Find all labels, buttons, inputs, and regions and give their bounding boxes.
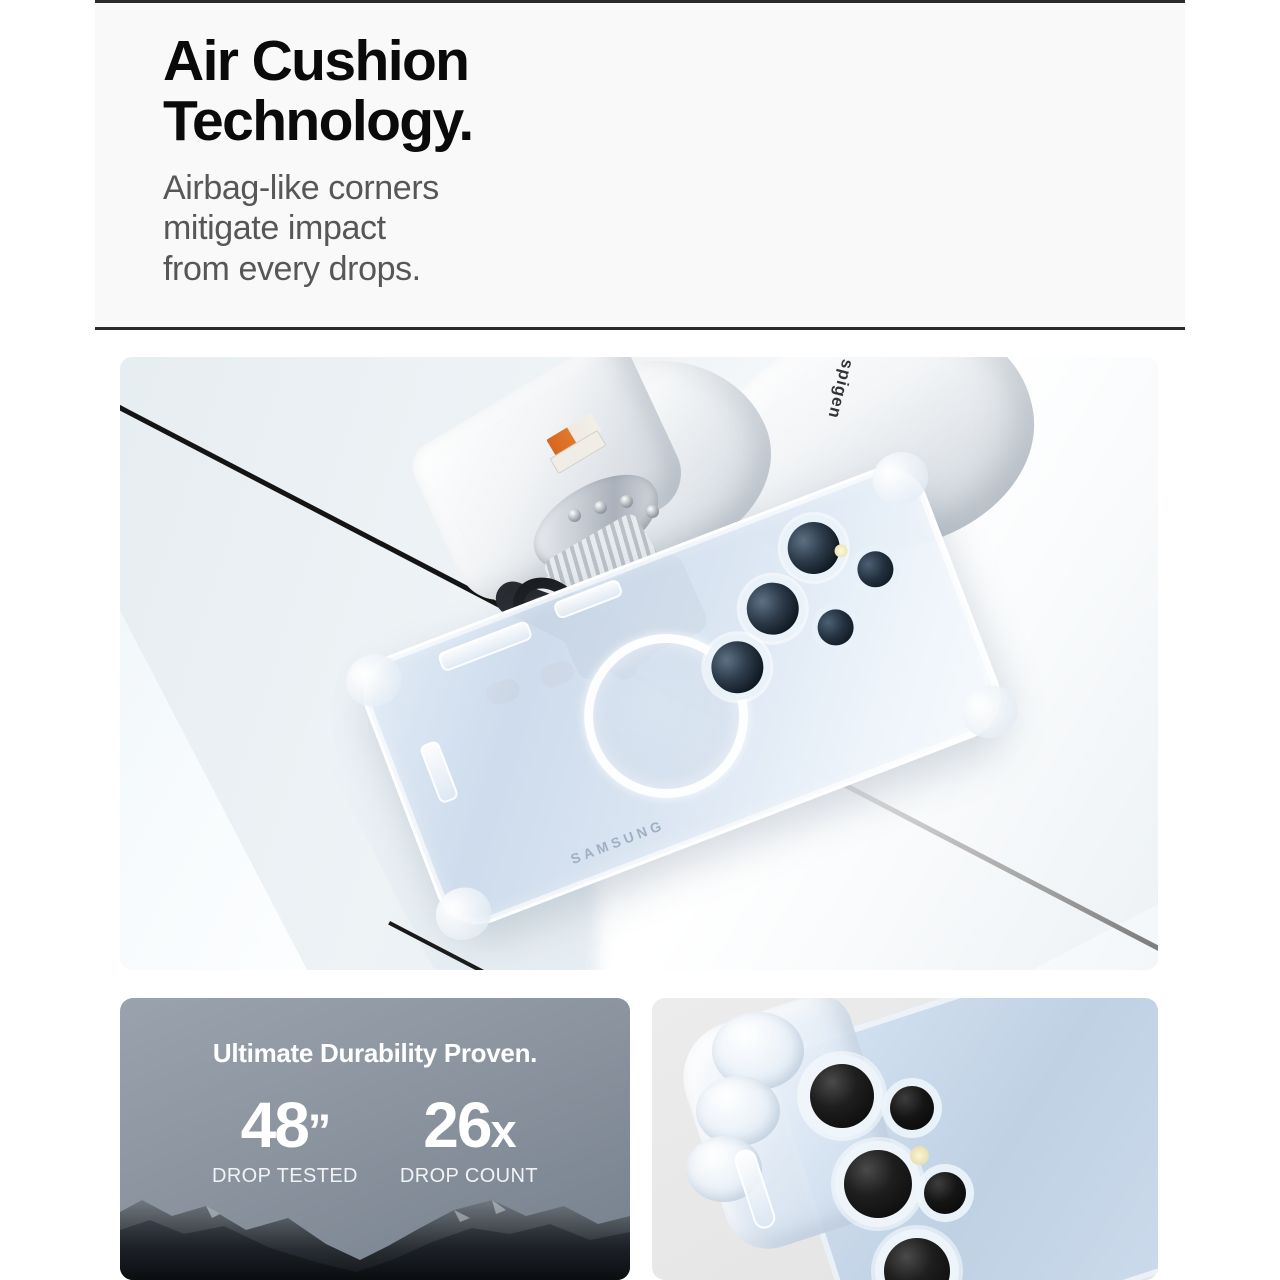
cushion-bubble (696, 1076, 780, 1146)
flange-bolt-icon (594, 501, 607, 514)
camera-lens-icon (812, 604, 859, 651)
stat-value: 26x (400, 1093, 538, 1157)
product-feature-page: Air Cushion Technology. Airbag-like corn… (0, 0, 1280, 1280)
stat-unit: ” (308, 1104, 330, 1157)
subhead-line-2: mitigate impact (163, 209, 386, 247)
subhead-line-3: from every drops. (163, 250, 421, 288)
header-block: Air Cushion Technology. Airbag-like corn… (95, 0, 1185, 330)
flange-bolt-icon (568, 509, 581, 522)
page-subtitle: Airbag-like corners mitigate impact from… (163, 168, 1185, 289)
camera-flash-icon (910, 1146, 929, 1165)
headline-line-1: Air Cushion (163, 29, 468, 93)
camera-lens-icon (890, 1086, 934, 1130)
stat-number: 26 (423, 1089, 490, 1161)
flange-bolt-icon (620, 495, 633, 508)
page-title: Air Cushion Technology. (163, 31, 1185, 152)
camera-lens-icon (739, 575, 806, 642)
stat-number: 48 (241, 1089, 308, 1161)
mountain-svg (120, 1172, 630, 1280)
flange-bolt-icon (646, 505, 659, 518)
headline-line-2: Technology. (163, 89, 473, 153)
camera-lens-icon (810, 1064, 874, 1128)
stat-value: 48” (212, 1093, 358, 1157)
stat-unit: x (490, 1104, 514, 1157)
stat-card-title: Ultimate Durability Proven. (120, 1038, 630, 1069)
subhead-line-1: Airbag-like corners (163, 169, 439, 207)
durability-stat-card: Ultimate Durability Proven. 48” DROP TES… (120, 998, 630, 1280)
header-text-group: Air Cushion Technology. Airbag-like corn… (95, 3, 1185, 289)
camera-lens-icon (924, 1172, 966, 1214)
air-cushion-closeup-card (652, 998, 1158, 1280)
camera-lens-icon (844, 1150, 912, 1218)
hero-image-drop-test: spigen SAMSUNG (120, 357, 1158, 970)
mountain-silhouette-graphic (120, 1172, 630, 1280)
